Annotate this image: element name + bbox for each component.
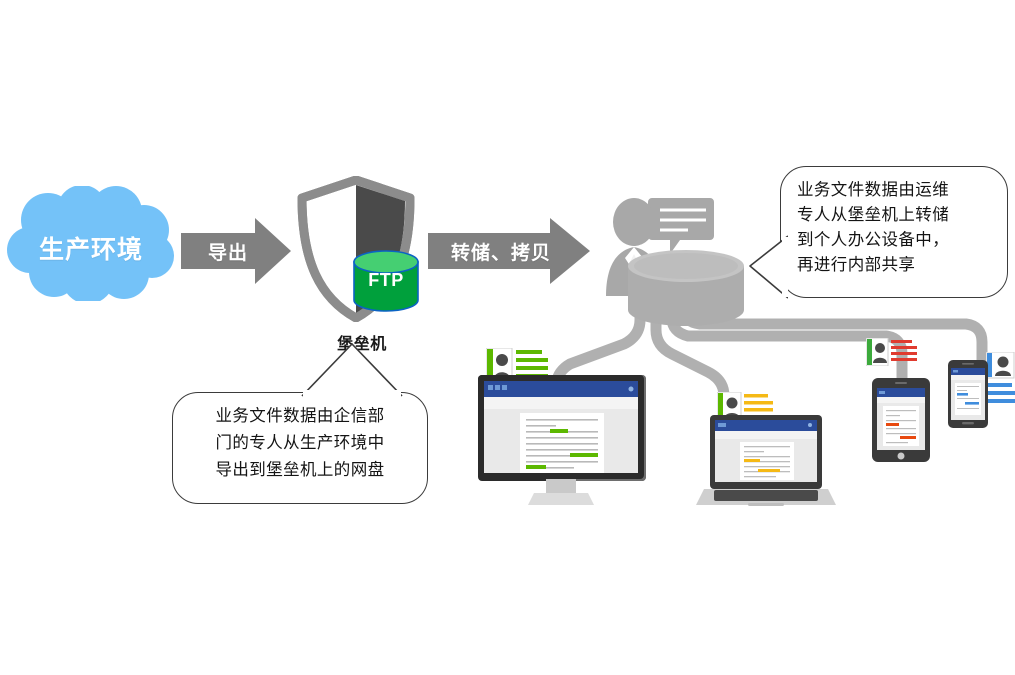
laptop xyxy=(696,415,836,511)
callout-left-line-1: 业务文件数据由企信部 xyxy=(187,403,413,430)
ftp-storage-cylinder: FTP xyxy=(352,250,420,312)
callout-right-line-4: 再进行内部共享 xyxy=(797,253,991,278)
desktop-monitor xyxy=(478,375,650,507)
ftp-label: FTP xyxy=(352,270,420,291)
callout-bastion-export: 业务文件数据由企信部 门的专人从生产环境中 导出到堡垒机上的网盘 xyxy=(172,392,428,504)
callout-right-line-2: 专人从堡垒机上转储 xyxy=(797,203,991,228)
server-storage-cylinder xyxy=(626,250,746,326)
callout-right-line-3: 到个人办公设备中， xyxy=(797,228,991,253)
callout-right-line-1: 业务文件数据由运维 xyxy=(797,178,991,203)
user-card-tablet xyxy=(866,338,918,371)
callout-left-tail xyxy=(296,342,412,398)
arrow-export: 导出 xyxy=(181,216,291,286)
diagram-canvas: 生产环境 导出 FTP 堡垒机 转储、拷贝 xyxy=(0,0,1015,675)
arrow-export-label: 导出 xyxy=(181,216,291,286)
arrow-transfer-copy-label: 转储、拷贝 xyxy=(428,216,590,286)
tablet xyxy=(872,378,930,462)
callout-right-tail xyxy=(748,232,788,302)
callout-left-line-2: 门的专人从生产环境中 xyxy=(187,430,413,457)
arrow-transfer-copy: 转储、拷贝 xyxy=(428,216,590,286)
callout-internal-share: 业务文件数据由运维 专人从堡垒机上转储 到个人办公设备中， 再进行内部共享 xyxy=(780,166,1008,298)
user-card-phone xyxy=(986,352,1015,415)
callout-left-line-3: 导出到堡垒机上的网盘 xyxy=(187,457,413,484)
smartphone xyxy=(948,360,988,428)
production-environment-cloud: 生产环境 xyxy=(6,186,176,301)
cloud-label: 生产环境 xyxy=(6,230,176,266)
